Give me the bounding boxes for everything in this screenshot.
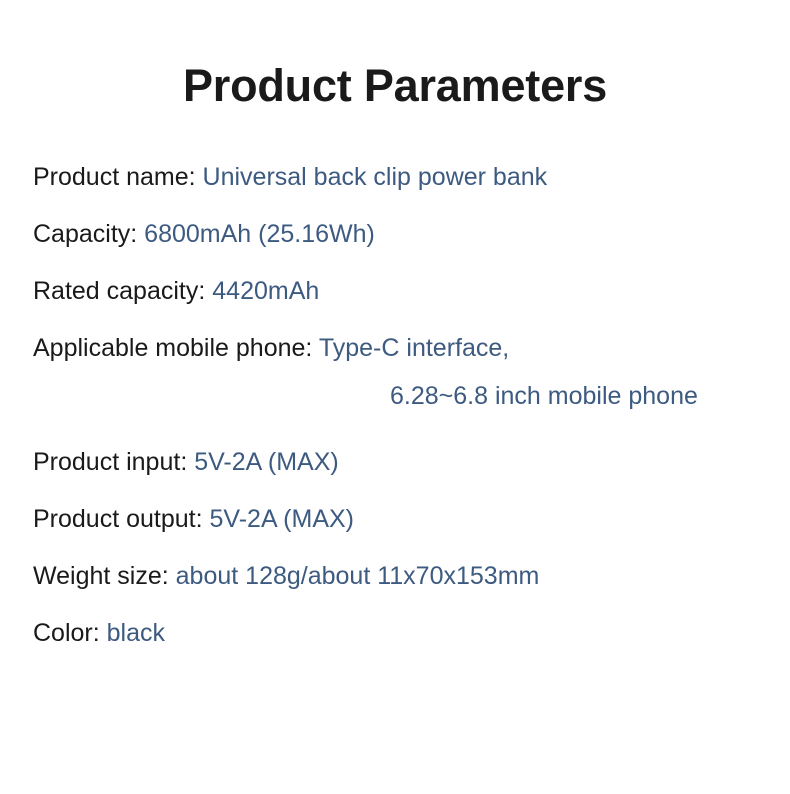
spec-value: 6800mAh (25.16Wh) (144, 220, 375, 248)
spec-row-product-input: Product input: 5V-2A (MAX) (33, 442, 773, 499)
spec-value: about 128g/about 11x70x153mm (176, 562, 540, 590)
spec-row-capacity: Capacity: 6800mAh (25.16Wh) (33, 214, 773, 271)
spec-row-product-output: Product output: 5V-2A (MAX) (33, 499, 773, 556)
product-parameters-page: Product Parameters Product name: Univers… (0, 0, 790, 794)
spec-row-color: Color: black (33, 613, 773, 670)
spec-value: 5V-2A (MAX) (194, 448, 339, 476)
page-title: Product Parameters (0, 60, 790, 112)
spec-row-rated-capacity: Rated capacity: 4420mAh (33, 271, 773, 328)
spec-value: Universal back clip power bank (203, 163, 548, 191)
spec-row-applicable-mobile-phone: Applicable mobile phone: Type-C interfac… (33, 328, 773, 442)
spec-label: Product name: (33, 163, 203, 191)
spec-value: Type-C interface, (319, 334, 509, 362)
spec-row-product-name: Product name: Universal back clip power … (33, 157, 773, 214)
spec-value: 5V-2A (MAX) (210, 505, 355, 533)
spec-row-weight-size: Weight size: about 128g/about 11x70x153m… (33, 556, 773, 613)
spec-label: Weight size: (33, 562, 176, 590)
spec-value: 4420mAh (212, 277, 319, 305)
spec-label: Applicable mobile phone: (33, 334, 319, 362)
spec-label: Product input: (33, 448, 194, 476)
spec-label: Product output: (33, 505, 210, 533)
spec-value-continuation: 6.28~6.8 inch mobile phone (33, 368, 773, 425)
spec-label: Color: (33, 619, 107, 647)
spec-value: black (107, 619, 165, 647)
spec-label: Capacity: (33, 220, 144, 248)
spec-label: Rated capacity: (33, 277, 212, 305)
spec-list: Product name: Universal back clip power … (33, 157, 773, 670)
